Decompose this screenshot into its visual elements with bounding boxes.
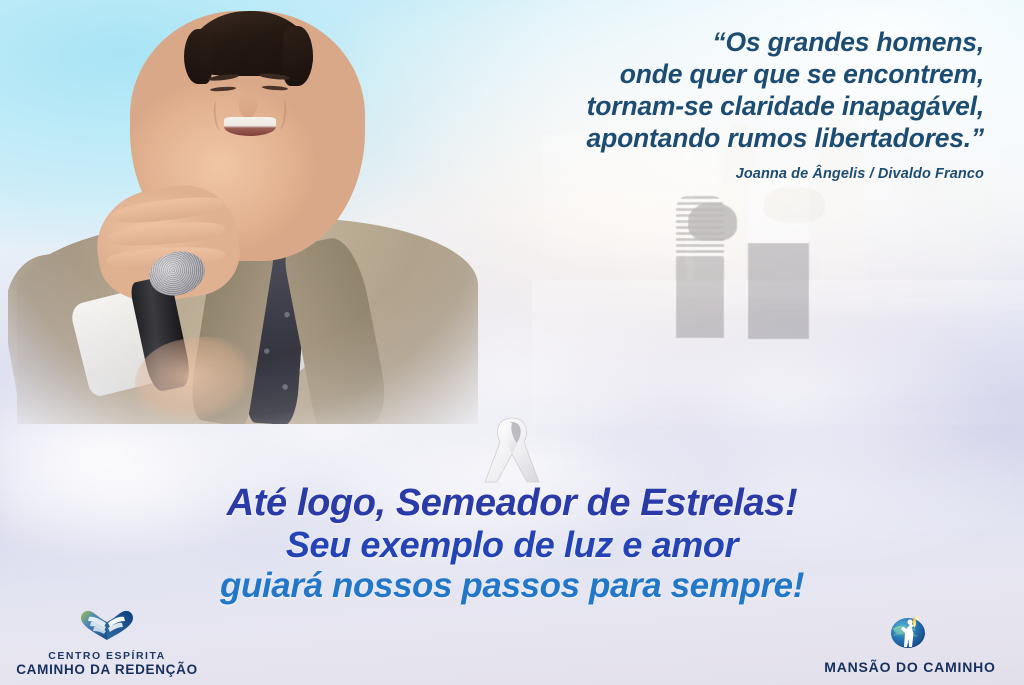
portrait-eyebrow-left [208,73,239,82]
figure-torso [676,196,725,257]
headline-line-3: guiará nossos passos para sempre! [0,568,1024,603]
microphone-head [144,245,210,302]
figure-legs [748,243,809,338]
figure-head [763,186,824,224]
finger [106,245,224,271]
quote-line-3: tornam-se claridade inapagável, [364,90,984,122]
quote-attribution: Joanna de Ângelis / Divaldo Franco [364,166,984,182]
cloud-layer-mid [287,274,1024,480]
cloud-layer-violet [0,247,451,411]
suit-lapel-left [186,231,276,427]
logo-mansao-do-caminho: MANSÃO DO CAMINHO [810,609,1010,675]
finger [106,219,225,249]
globe-figure-flame-icon [810,609,1010,656]
logo-centro-espirita: CENTRO ESPÍRITA CAMINHO DA REDENÇÃO [12,608,202,677]
portrait-eye-left [210,86,236,92]
suit-jacket [17,218,478,442]
headline-block: Até logo, Semeador de Estrelas! Seu exem… [0,484,1024,603]
portrait-smile-line-left [212,100,226,131]
logo-right-line-1: MANSÃO DO CAMINHO [810,659,1010,675]
portrait-eye-right [262,85,288,91]
portrait-nose [239,93,257,118]
logo-left-line-1: CENTRO ESPÍRITA [12,650,202,662]
portrait-face [130,11,365,260]
portrait-hair-side-left [184,29,212,84]
finger [111,194,225,227]
patterned-tie [244,250,308,425]
portrait-smile [224,117,276,136]
dress-shirt [240,242,322,375]
portrait-hair-side-right [283,26,314,86]
memorial-poster: “Os grandes homens, onde quer que se enc… [0,0,1024,685]
portrait-eyebrow-right [259,72,290,80]
scene-figure-white-shirt [748,178,809,377]
hand-on-chin [89,177,246,309]
quote-line-4: apontando rumos libertadores.” [364,122,984,154]
scene-ground [532,298,1024,425]
figure-legs [676,257,725,338]
suit-lapel-right [282,234,392,434]
quote-block: “Os grandes homens, onde quer que se enc… [364,26,984,182]
figure-head [688,203,737,241]
figure-torso [748,178,809,244]
scene-wall [532,280,1024,310]
logo-left-line-2: CAMINHO DA REDENÇÃO [12,662,202,677]
quote-line-2: onde quer que se encontrem, [364,58,984,90]
quote-line-1: “Os grandes homens, [364,26,984,58]
portrait-smile-line-right [274,99,288,130]
hand-holding-microphone [130,332,261,439]
hands-heart-icon [12,608,202,647]
headline-line-1: Até logo, Semeador de Estrelas! [0,484,1024,522]
scene-figure-striped-shirt [676,196,725,377]
microphone-body [128,275,193,393]
mourning-ribbon-icon [473,408,551,490]
suit-sleeve [0,243,144,434]
headline-line-2: Seu exemplo de luz e amor [0,527,1024,563]
shirt-cuff [68,287,168,398]
portrait-hair [187,11,314,76]
